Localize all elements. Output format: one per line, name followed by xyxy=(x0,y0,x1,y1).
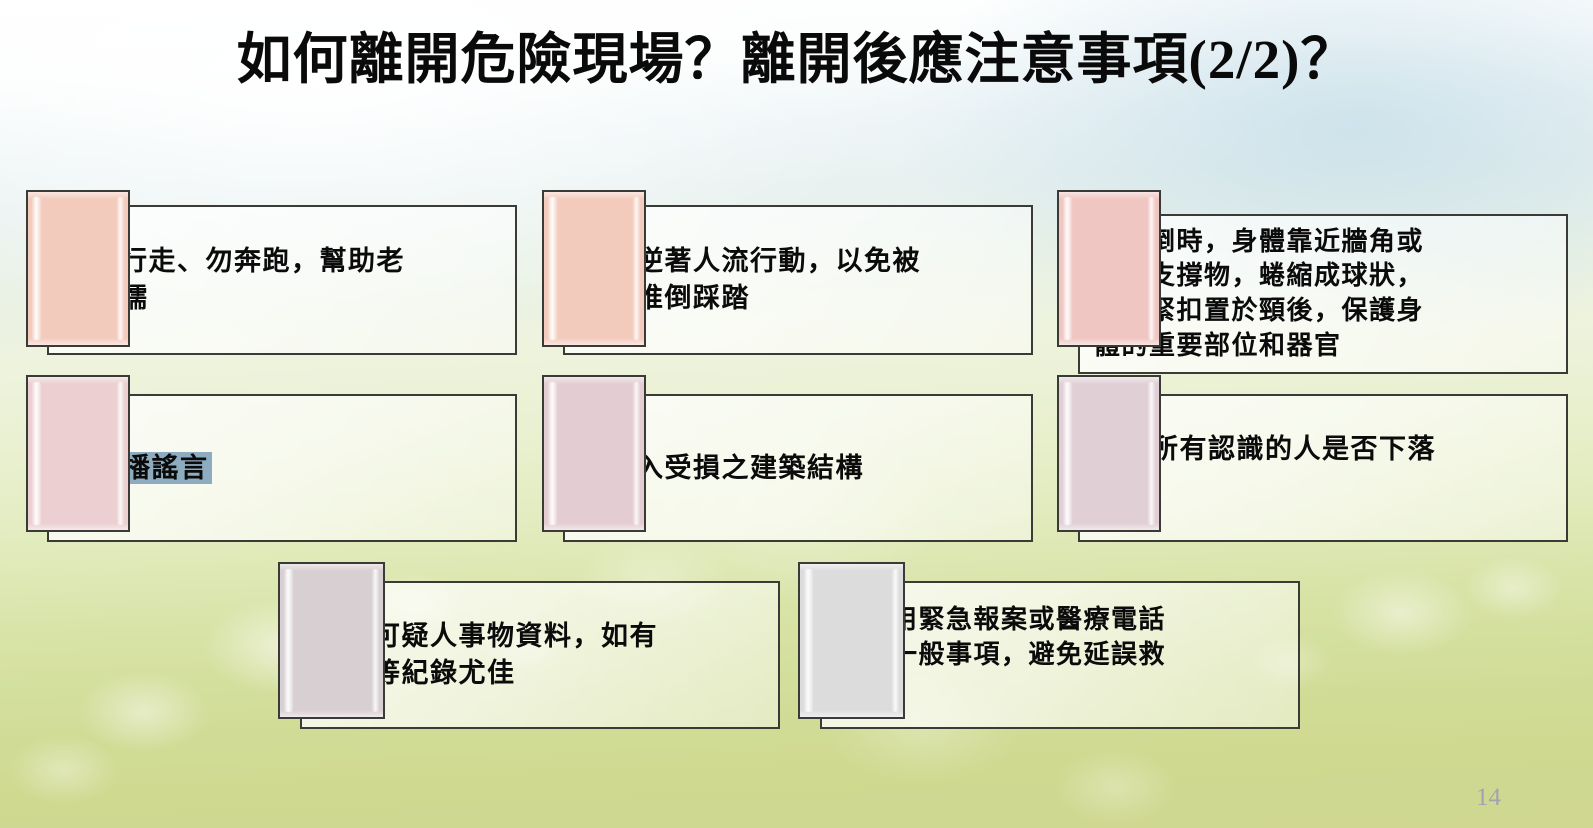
slide-title: 如何離開危險現場？離開後應注意事項(2/2)？ xyxy=(0,14,1593,94)
callout-1-tab[interactable] xyxy=(26,190,130,347)
page-number: 14 xyxy=(1476,784,1501,812)
callout-6-tab[interactable] xyxy=(1057,375,1161,532)
callout-4-tab[interactable] xyxy=(26,375,130,532)
callout-7-tab[interactable] xyxy=(278,562,385,719)
callout-3-tab[interactable] xyxy=(1057,190,1161,347)
slide-canvas: 如何離開危險現場？離開後應注意事項(2/2)？ 快速行走、勿奔跑，幫助老 弱婦孺… xyxy=(0,0,1593,828)
callout-8-tab[interactable] xyxy=(798,562,905,719)
callout-5-tab[interactable] xyxy=(542,375,646,532)
callout-2-tab[interactable] xyxy=(542,190,646,347)
